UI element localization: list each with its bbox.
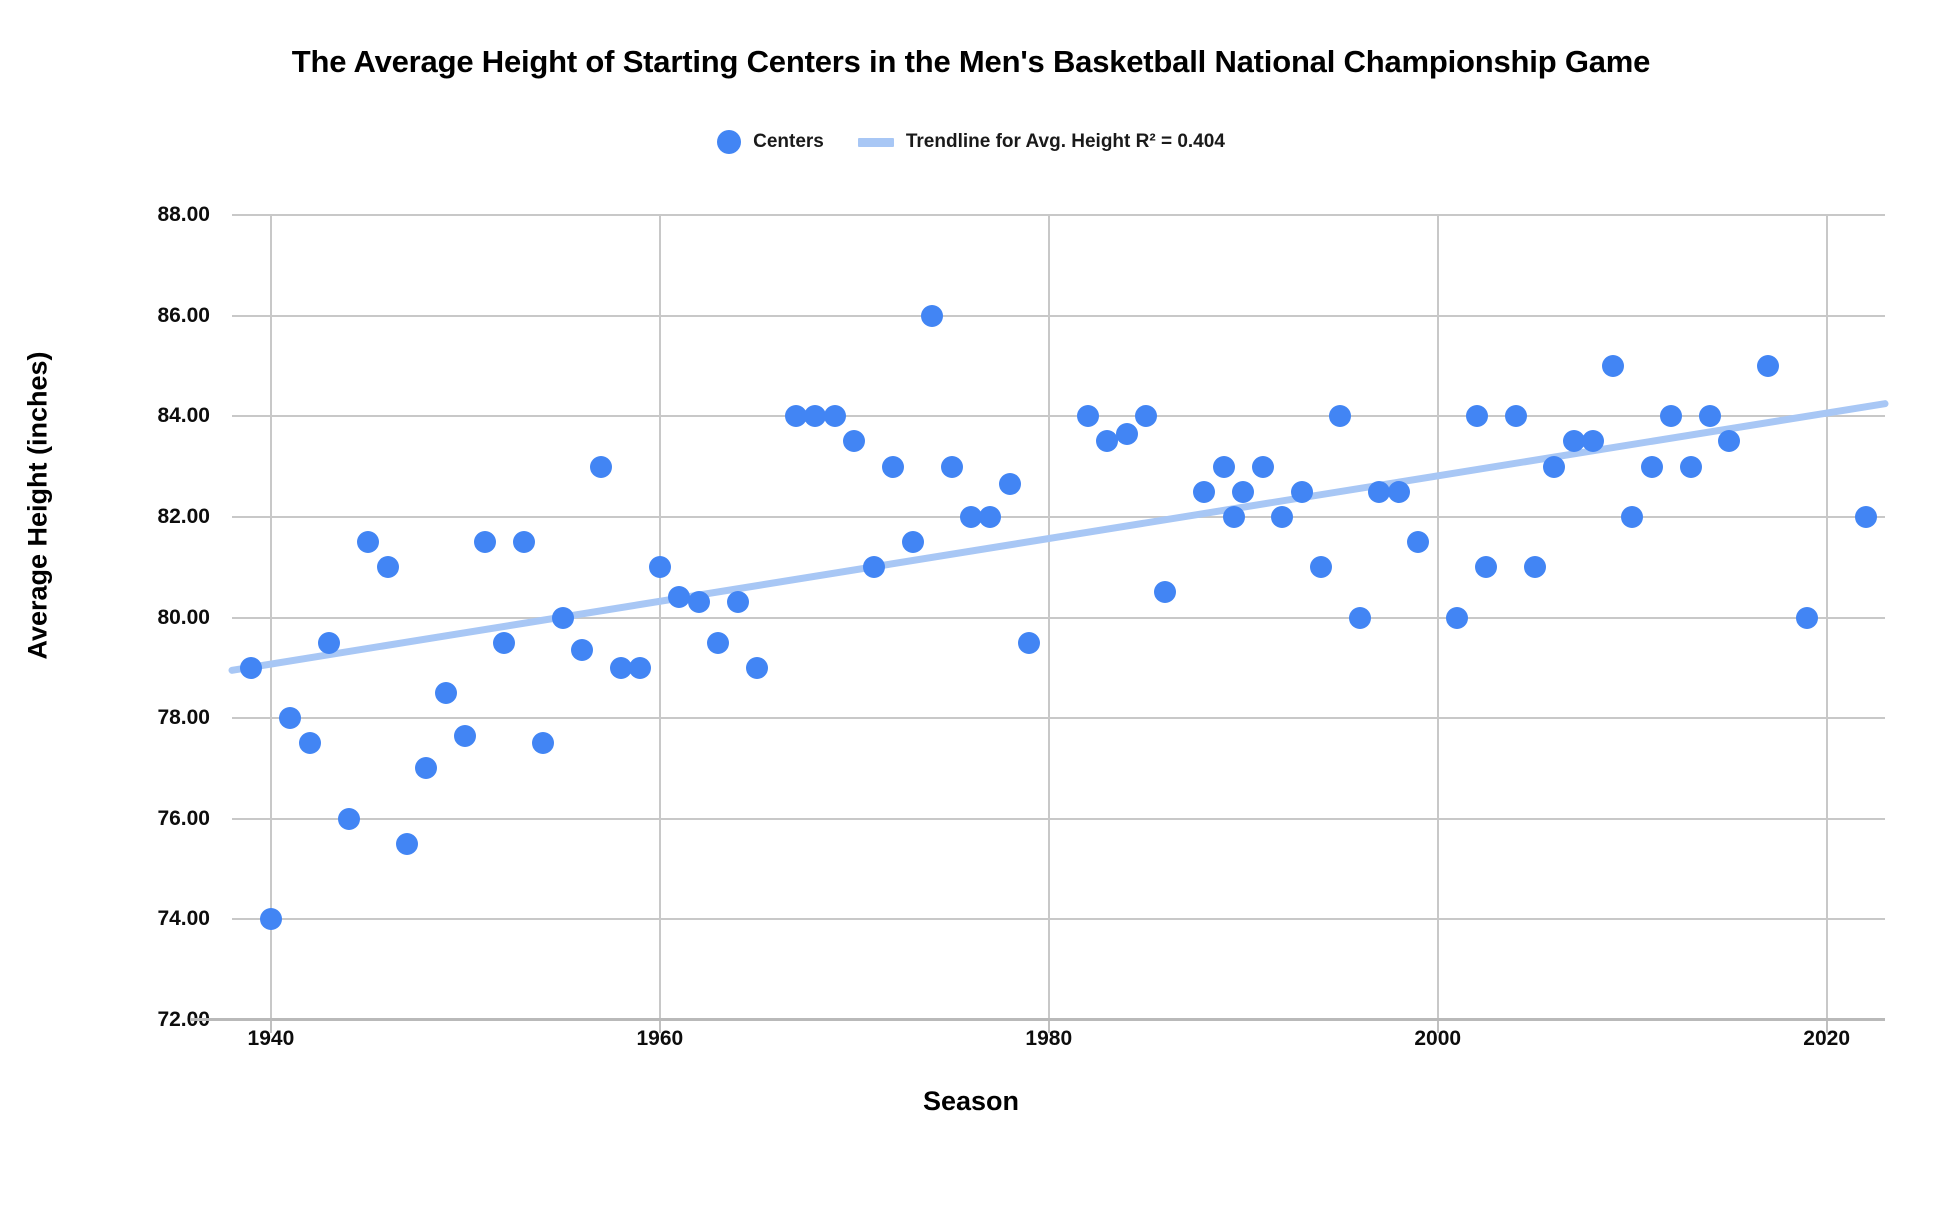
data-point[interactable] — [1524, 556, 1546, 578]
legend-item-centers[interactable]: Centers — [717, 130, 824, 154]
data-point[interactable] — [318, 632, 340, 654]
gridline-vertical — [659, 215, 661, 1020]
data-point[interactable] — [1475, 556, 1497, 578]
gridline-vertical — [270, 215, 272, 1020]
data-point[interactable] — [629, 657, 651, 679]
data-point[interactable] — [1855, 506, 1877, 528]
data-point[interactable] — [299, 732, 321, 754]
data-point[interactable] — [668, 586, 690, 608]
data-point[interactable] — [1757, 355, 1779, 377]
x-axis-tick-label: 2020 — [1747, 1027, 1907, 1051]
data-point[interactable] — [377, 556, 399, 578]
data-point[interactable] — [921, 305, 943, 327]
chart-legend: Centers Trendline for Avg. Height R² = 0… — [0, 130, 1942, 154]
data-point[interactable] — [746, 657, 768, 679]
data-point[interactable] — [941, 456, 963, 478]
legend-item-trendline[interactable]: Trendline for Avg. Height R² = 0.404 — [858, 131, 1225, 153]
data-point[interactable] — [1466, 405, 1488, 427]
data-point[interactable] — [1796, 607, 1818, 629]
x-axis-tick-label: 1940 — [191, 1027, 351, 1051]
data-point[interactable] — [882, 456, 904, 478]
data-point[interactable] — [415, 757, 437, 779]
data-point[interactable] — [1232, 481, 1254, 503]
data-point[interactable] — [707, 632, 729, 654]
legend-label-centers: Centers — [753, 131, 824, 153]
data-point[interactable] — [1699, 405, 1721, 427]
gridline-horizontal — [232, 214, 1885, 216]
legend-dot-icon — [717, 130, 741, 154]
data-point[interactable] — [727, 591, 749, 613]
data-point[interactable] — [571, 639, 593, 661]
data-point[interactable] — [1543, 456, 1565, 478]
data-point[interactable] — [1621, 506, 1643, 528]
data-point[interactable] — [1223, 506, 1245, 528]
data-point[interactable] — [1271, 506, 1293, 528]
data-point[interactable] — [999, 473, 1021, 495]
data-point[interactable] — [1193, 481, 1215, 503]
x-axis-title: Season — [0, 1086, 1942, 1117]
data-point[interactable] — [532, 732, 554, 754]
data-point[interactable] — [1641, 456, 1663, 478]
data-point[interactable] — [1310, 556, 1332, 578]
data-point[interactable] — [1077, 405, 1099, 427]
data-point[interactable] — [474, 531, 496, 553]
data-point[interactable] — [1291, 481, 1313, 503]
data-point[interactable] — [279, 707, 301, 729]
data-point[interactable] — [513, 531, 535, 553]
gridline-vertical — [1437, 215, 1439, 1020]
gridline-horizontal — [232, 918, 1885, 920]
data-point[interactable] — [902, 531, 924, 553]
data-point[interactable] — [435, 682, 457, 704]
data-point[interactable] — [240, 657, 262, 679]
chart-title: The Average Height of Starting Centers i… — [0, 44, 1942, 80]
plot-area: 72.0074.0076.0078.0080.0082.0084.0086.00… — [232, 215, 1885, 1020]
data-point[interactable] — [1446, 607, 1468, 629]
legend-line-icon — [858, 138, 894, 147]
data-point[interactable] — [1018, 632, 1040, 654]
data-point[interactable] — [590, 456, 612, 478]
data-point[interactable] — [1213, 456, 1235, 478]
y-axis-tick-label: 72.00 — [50, 1008, 210, 1032]
data-point[interactable] — [863, 556, 885, 578]
legend-label-trendline: Trendline for Avg. Height R² = 0.404 — [906, 131, 1225, 153]
data-point[interactable] — [396, 833, 418, 855]
scatter-chart: The Average Height of Starting Centers i… — [0, 0, 1942, 1206]
data-point[interactable] — [493, 632, 515, 654]
x-axis-tick-label: 1960 — [580, 1027, 740, 1051]
data-point[interactable] — [1602, 355, 1624, 377]
data-point[interactable] — [357, 531, 379, 553]
data-point[interactable] — [1135, 405, 1157, 427]
y-axis-tick-label: 84.00 — [50, 404, 210, 428]
x-axis-line — [190, 1018, 1885, 1021]
data-point[interactable] — [649, 556, 671, 578]
data-point[interactable] — [454, 725, 476, 747]
y-axis-tick-label: 86.00 — [50, 304, 210, 328]
y-axis-tick-label: 88.00 — [50, 203, 210, 227]
data-point[interactable] — [1582, 430, 1604, 452]
y-axis-tick-label: 78.00 — [50, 706, 210, 730]
data-point[interactable] — [260, 908, 282, 930]
data-point[interactable] — [1096, 430, 1118, 452]
data-point[interactable] — [1388, 481, 1410, 503]
data-point[interactable] — [552, 607, 574, 629]
y-axis-tick-label: 76.00 — [50, 807, 210, 831]
data-point[interactable] — [979, 506, 1001, 528]
gridline-vertical — [1048, 215, 1050, 1020]
y-axis-tick-label: 80.00 — [50, 606, 210, 630]
x-axis-tick-label: 2000 — [1358, 1027, 1518, 1051]
data-point[interactable] — [1349, 607, 1371, 629]
gridline-vertical — [1826, 215, 1828, 1020]
data-point[interactable] — [1252, 456, 1274, 478]
gridline-horizontal — [232, 617, 1885, 619]
data-point[interactable] — [1505, 405, 1527, 427]
data-point[interactable] — [1407, 531, 1429, 553]
data-point[interactable] — [843, 430, 865, 452]
data-point[interactable] — [1680, 456, 1702, 478]
data-point[interactable] — [338, 808, 360, 830]
gridline-horizontal — [232, 415, 1885, 417]
data-point[interactable] — [824, 405, 846, 427]
data-point[interactable] — [688, 591, 710, 613]
data-point[interactable] — [1660, 405, 1682, 427]
data-point[interactable] — [1718, 430, 1740, 452]
data-point[interactable] — [1116, 423, 1138, 445]
x-axis-tick-label: 1980 — [969, 1027, 1129, 1051]
gridline-horizontal — [232, 315, 1885, 317]
data-point[interactable] — [1329, 405, 1351, 427]
y-axis-tick-label: 74.00 — [50, 907, 210, 931]
y-axis-tick-label: 82.00 — [50, 505, 210, 529]
data-point[interactable] — [1154, 581, 1176, 603]
gridline-horizontal — [232, 818, 1885, 820]
gridline-horizontal — [232, 717, 1885, 719]
y-axis-title: Average Height (inches) — [23, 296, 54, 716]
